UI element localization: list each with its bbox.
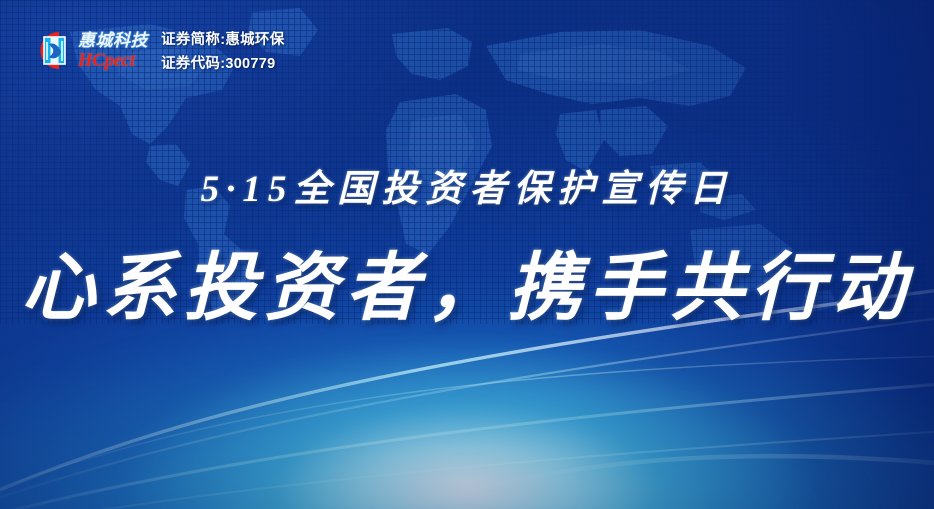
security-codes: 证券简称:惠城环保 证券代码:300779 [161, 28, 285, 73]
hc-circle-emblem-icon [32, 30, 73, 71]
security-short-name: 证券简称:惠城环保 [161, 28, 285, 49]
banner-slide: 惠城科技 HCpect 证券简称:惠城环保 证券代码:300779 5·15全国… [0, 0, 934, 509]
company-logo: 惠城科技 HCpect [32, 30, 148, 71]
logo-company-name-cn: 惠城科技 [78, 32, 148, 49]
logo-wordmark: 惠城科技 HCpect [78, 32, 148, 70]
slogan-line-1: 5·15全国投资者保护宣传日 [0, 158, 934, 212]
brand-header: 惠城科技 HCpect 证券简称:惠城环保 证券代码:300779 [32, 28, 285, 73]
security-code: 证券代码:300779 [161, 52, 285, 73]
logo-company-name-en: HCpect [78, 51, 148, 70]
slogan-line-2: 心系投资者，携手共行动 [0, 228, 934, 335]
